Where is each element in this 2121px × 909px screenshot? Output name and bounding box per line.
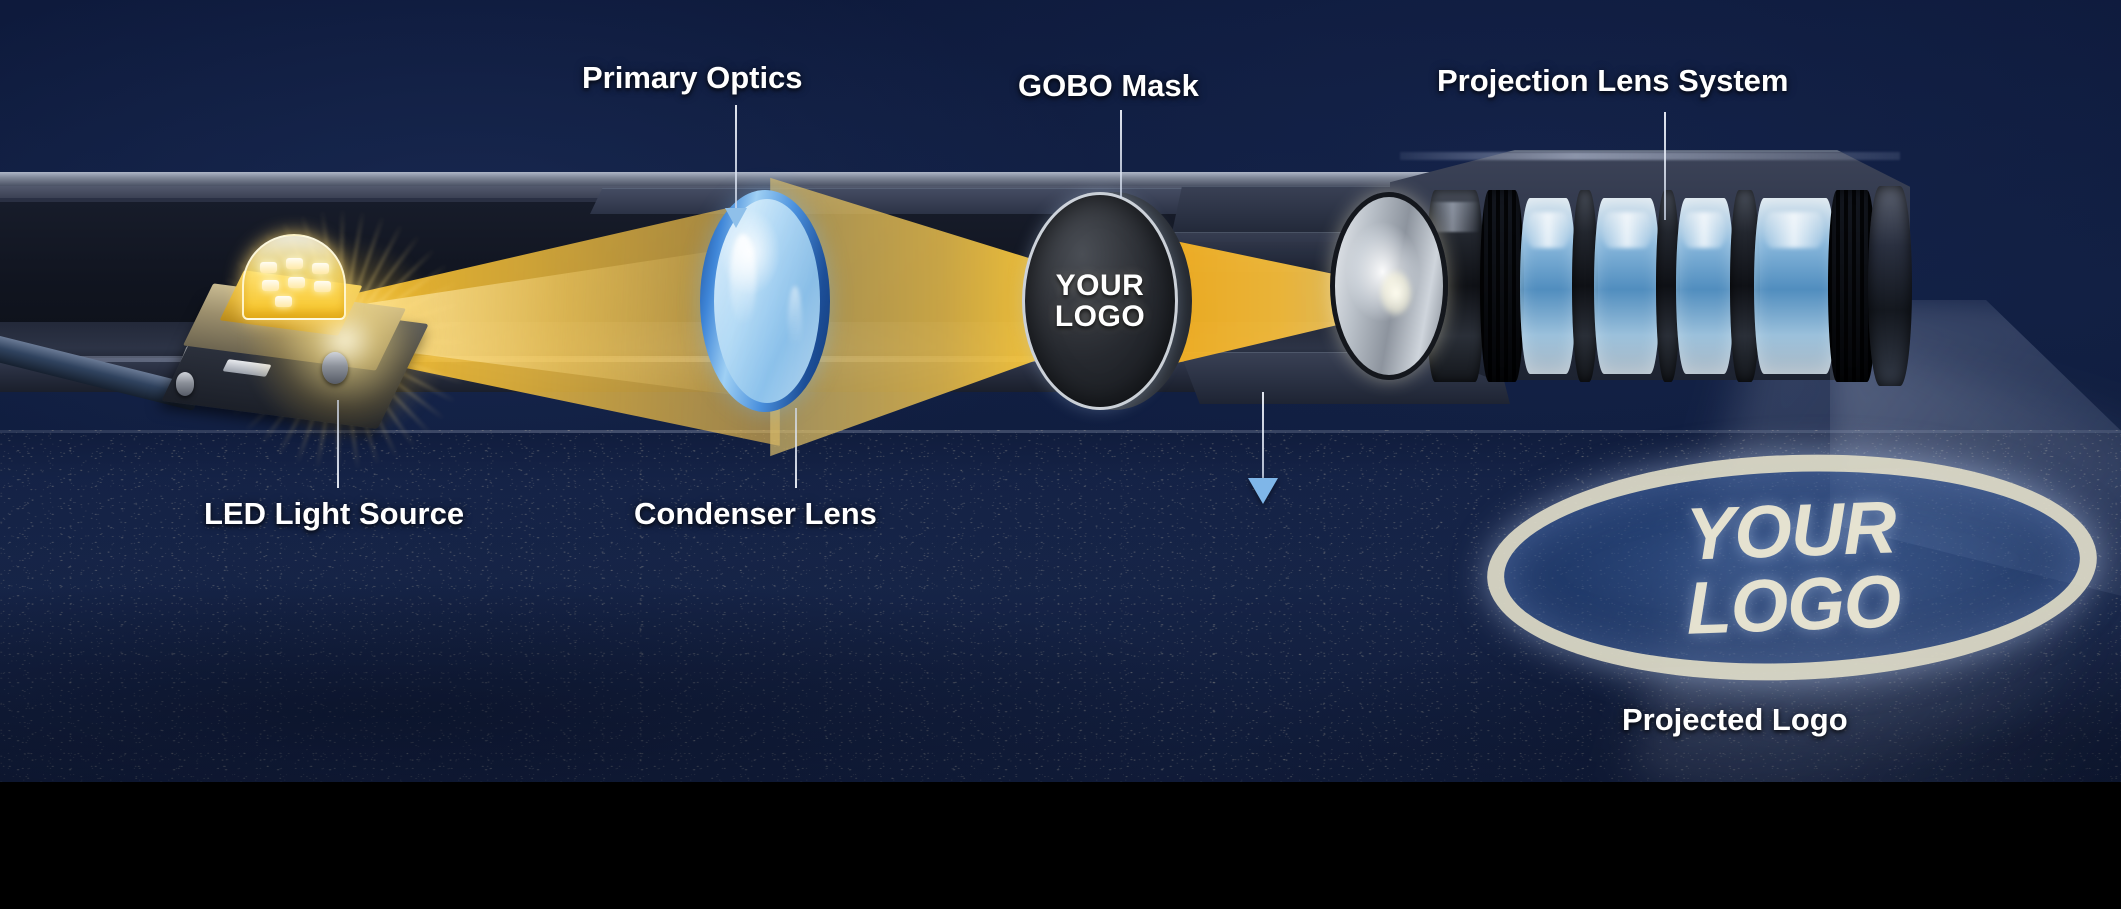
gobo-mask-disc: YOUR LOGO bbox=[1022, 192, 1178, 410]
arrow-primary-optics bbox=[725, 208, 747, 228]
condenser-lens-specular-1 bbox=[730, 234, 756, 326]
led-mounting-screw bbox=[322, 352, 348, 384]
led-die-5 bbox=[288, 277, 305, 288]
label-gobo-mask: GOBO Mask bbox=[1018, 68, 1199, 104]
leader-line-projection-lens bbox=[1664, 112, 1666, 220]
condenser-lens-specular-2 bbox=[788, 286, 802, 360]
label-primary-optics: Primary Optics bbox=[582, 60, 803, 96]
lens-element-1-highlight bbox=[1526, 212, 1570, 248]
led-die-2 bbox=[286, 258, 303, 269]
projection-lens-system bbox=[1330, 186, 1900, 386]
lens-front-bezel bbox=[1868, 186, 1912, 386]
arrow-gobo-ground bbox=[1248, 478, 1278, 504]
gobo-text-line-2: LOGO bbox=[1055, 301, 1145, 333]
diagram-canvas: YOUR LOGO YOUR LOGO bbox=[0, 0, 2121, 909]
gobo-mask: YOUR LOGO bbox=[1022, 192, 1192, 410]
lens-rear-element-hotspot bbox=[1379, 269, 1413, 317]
projected-logo-line-2: LOGO bbox=[1685, 565, 1901, 644]
condenser-lens bbox=[700, 190, 830, 412]
led-die-4 bbox=[262, 280, 279, 291]
label-projection-lens-system: Projection Lens System bbox=[1437, 63, 1788, 99]
gobo-text-line-1: YOUR bbox=[1056, 270, 1145, 302]
label-projected-logo: Projected Logo bbox=[1622, 702, 1848, 738]
housing-top-bevel bbox=[0, 172, 1550, 186]
led-mounting-post bbox=[176, 372, 194, 396]
projected-logo-graphic: YOUR LOGO bbox=[1483, 444, 2100, 690]
led-die-6 bbox=[314, 281, 331, 292]
leader-line-primary-optics bbox=[735, 105, 737, 217]
led-die-7 bbox=[275, 296, 292, 307]
label-condenser-lens: Condenser Lens bbox=[634, 496, 877, 532]
letterbox-bar bbox=[0, 782, 2121, 909]
lens-element-4-highlight bbox=[1764, 212, 1824, 248]
lens-ring-highlight-1 bbox=[1430, 202, 1480, 232]
leader-line-condenser bbox=[795, 408, 797, 488]
label-led-light-source: LED Light Source bbox=[204, 496, 464, 532]
projected-logo-line-1: YOUR bbox=[1685, 491, 1897, 570]
lens-rear-element bbox=[1330, 192, 1448, 380]
led-light-source-module bbox=[150, 200, 510, 440]
projected-logo-text: YOUR LOGO bbox=[1483, 444, 2100, 690]
lens-element-3-highlight bbox=[1682, 212, 1726, 248]
led-die-1 bbox=[260, 262, 277, 273]
leader-line-led-source bbox=[337, 400, 339, 488]
lens-element-2-highlight bbox=[1602, 212, 1652, 248]
led-die-3 bbox=[312, 263, 329, 274]
condenser-lens-glass bbox=[714, 199, 820, 403]
lens-mount-highlight bbox=[1400, 152, 1900, 160]
leader-line-gobo-mask bbox=[1120, 110, 1122, 198]
lens-focus-knurl-1 bbox=[1480, 190, 1524, 382]
